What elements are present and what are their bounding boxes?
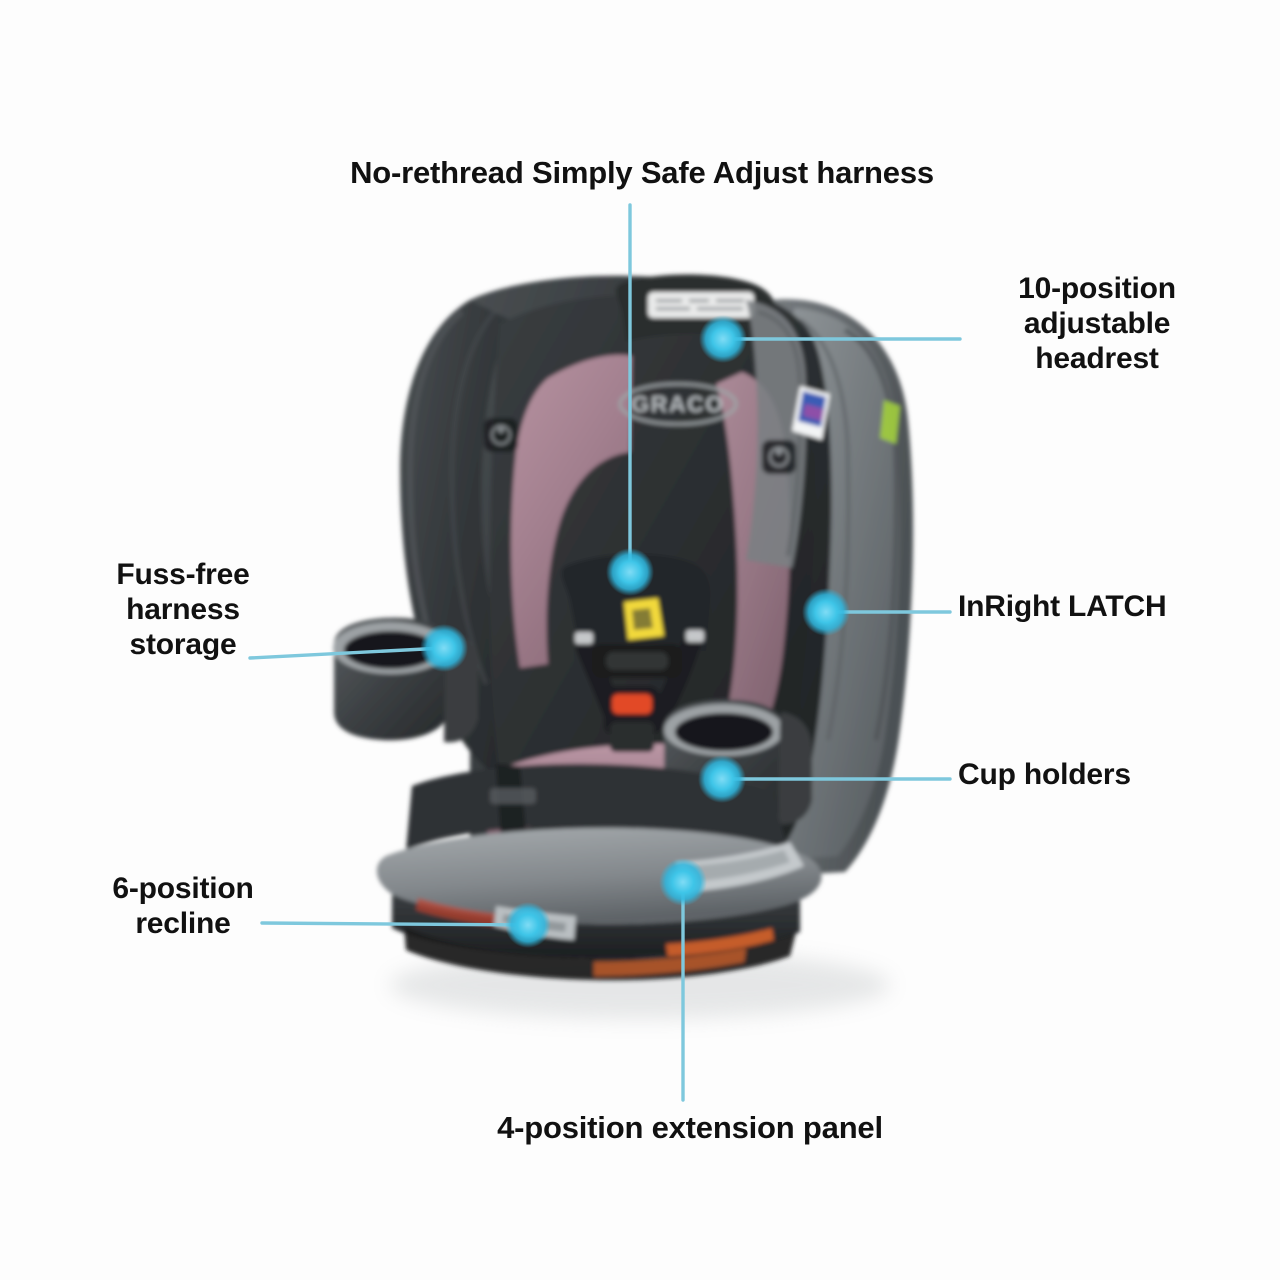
svg-text:GRACO: GRACO xyxy=(631,391,725,417)
callout-label-headrest: 10-position adjustable headrest xyxy=(962,272,1232,376)
harness-adjuster-left xyxy=(575,632,593,644)
callout-label-harness: No-rethread Simply Safe Adjust harness xyxy=(262,155,1022,191)
callout-label-recline: 6-position recline xyxy=(52,872,314,942)
warning-label-glyph xyxy=(632,608,653,630)
seat-body: GRACO xyxy=(333,275,913,981)
harness-storage-clip xyxy=(490,788,536,804)
latch-emblem-right xyxy=(762,440,796,474)
cup-holder-left xyxy=(333,618,478,743)
callout-label-harness-storage: Fuss-free harness storage xyxy=(52,558,314,662)
callout-label-latch: InRight LATCH xyxy=(958,590,1248,625)
buckle-release-button xyxy=(612,694,652,714)
buckle-tongue xyxy=(610,722,654,752)
diagram-canvas: GRACO xyxy=(0,0,1280,1280)
harness-adjuster-right xyxy=(686,630,704,642)
callout-label-cupholders: Cup holders xyxy=(958,758,1248,793)
headrest-label-strip xyxy=(648,292,754,318)
chest-clip-face xyxy=(606,652,668,670)
callout-label-extension-panel: 4-position extension panel xyxy=(420,1110,960,1146)
latch-emblem-left xyxy=(484,418,518,452)
